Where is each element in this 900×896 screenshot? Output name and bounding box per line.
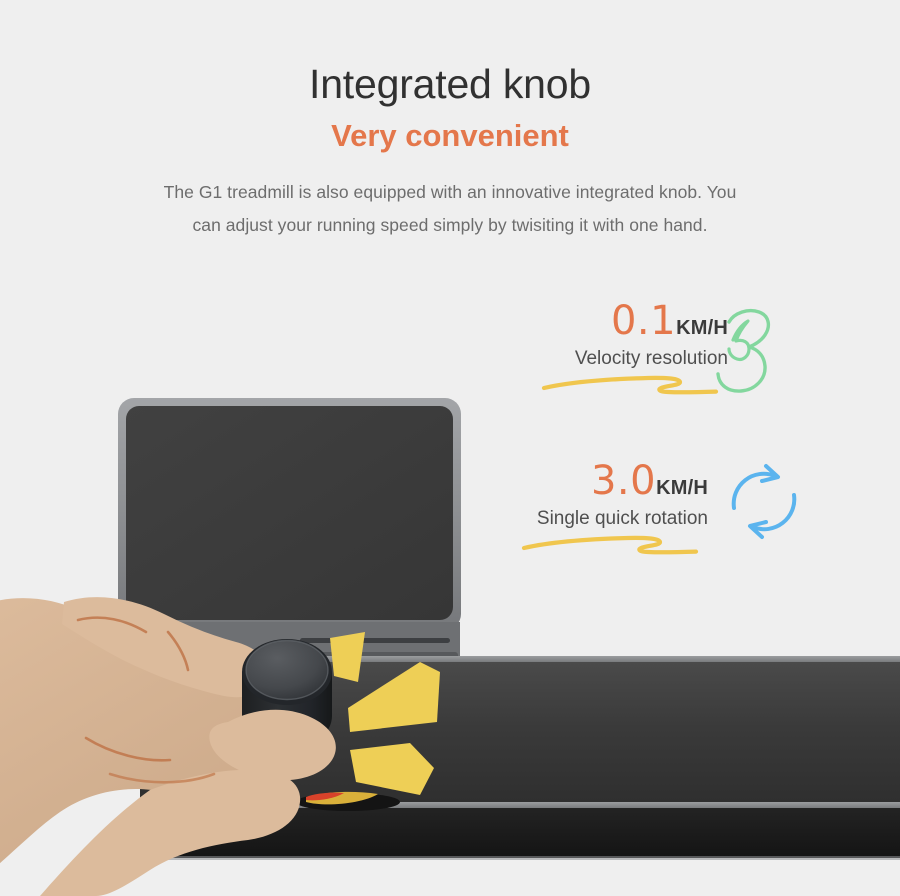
header-block: Integrated knob Very convenient The G1 t… <box>0 58 900 242</box>
description-line-1: The G1 treadmill is also equipped with a… <box>0 176 900 209</box>
callout-label: Velocity resolution <box>520 348 728 370</box>
treadmill-illustration <box>0 370 900 896</box>
description-line-2: can adjust your running speed simply by … <box>0 209 900 242</box>
page-description: The G1 treadmill is also equipped with a… <box>0 176 900 242</box>
promo-page: Integrated knob Very convenient The G1 t… <box>0 0 900 896</box>
callout-value-row: 0.1KM/H <box>520 298 728 344</box>
page-subtitle: Very convenient <box>0 114 900 158</box>
callout-value: 0.1 <box>611 298 676 344</box>
page-title: Integrated knob <box>0 58 900 110</box>
